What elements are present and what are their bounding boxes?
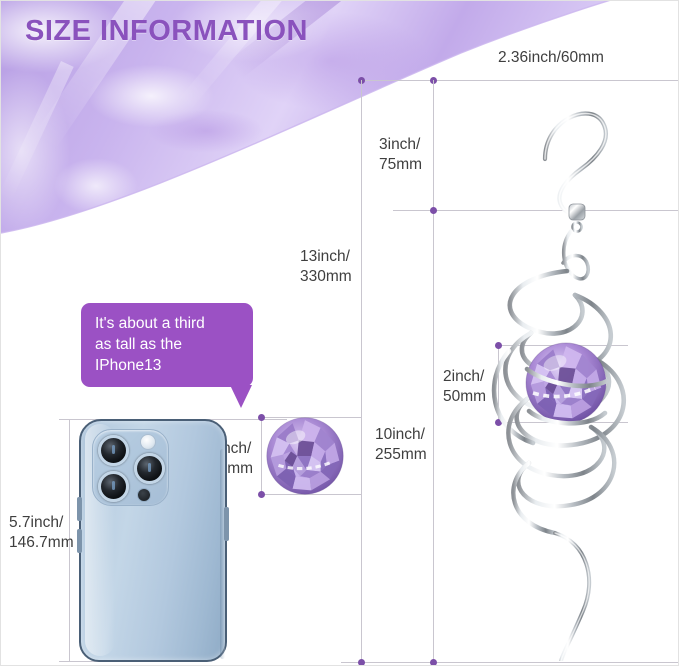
guide-total-height-line [361, 80, 362, 663]
camera-lens-right [134, 453, 165, 484]
guide-section-line [433, 80, 434, 663]
spiral-tail [555, 533, 589, 661]
spiral-wind-spinner [471, 81, 661, 661]
purple-crystal-ball-left [266, 417, 344, 495]
guide-dot-bottom-left [358, 659, 365, 666]
banner-light-streak-3 [1, 61, 74, 203]
camera-lens-top-left [98, 435, 129, 466]
banner-light-streak-2 [177, 1, 299, 112]
guide-dot-left-ball-bottom [258, 491, 265, 498]
guide-dot-left-ball-top [258, 414, 265, 421]
s-hook [545, 114, 606, 214]
crystal-facets-left [266, 417, 344, 495]
camera-lens-bottom-left [98, 471, 129, 502]
guide-bottom-baseline [341, 662, 679, 663]
iphone-volume-button-down [77, 529, 82, 553]
iphone-volume-button-up [77, 497, 82, 521]
comparison-callout-text: It's about a third as tall as the IPhone… [95, 313, 241, 376]
spinner-illustration [471, 81, 661, 661]
banner-dark-streak [229, 1, 345, 78]
comparison-callout-bubble: It's about a third as tall as the IPhone… [81, 303, 253, 387]
guide-left-ball-diameter-line [261, 417, 262, 495]
iphone-13-pro-reference [79, 419, 227, 662]
comparison-callout-tail [230, 385, 252, 408]
camera-lidar-sensor [137, 488, 151, 502]
label-total-height: 13inch/ 330mm [300, 247, 352, 287]
iphone-right-edge [220, 449, 225, 659]
label-hook-height: 3inch/ 75mm [379, 135, 422, 175]
iphone-power-button [224, 507, 229, 541]
iphone-camera-module [92, 429, 169, 506]
swivel-connector [569, 204, 585, 232]
guide-dot-bottom-right [430, 659, 437, 666]
label-spinner-width: 2.36inch/60mm [498, 48, 604, 68]
banner-light-streak-1 [34, 1, 173, 150]
size-information-infographic: SIZE INFORMATION It's about a third as t… [0, 0, 679, 666]
page-title: SIZE INFORMATION [25, 15, 308, 48]
guide-dot-section-divider [430, 207, 437, 214]
label-phone-height: 5.7inch/ 146.7mm [9, 513, 74, 553]
label-lower-height: 10inch/ 255mm [375, 425, 427, 465]
camera-flash [140, 434, 156, 450]
